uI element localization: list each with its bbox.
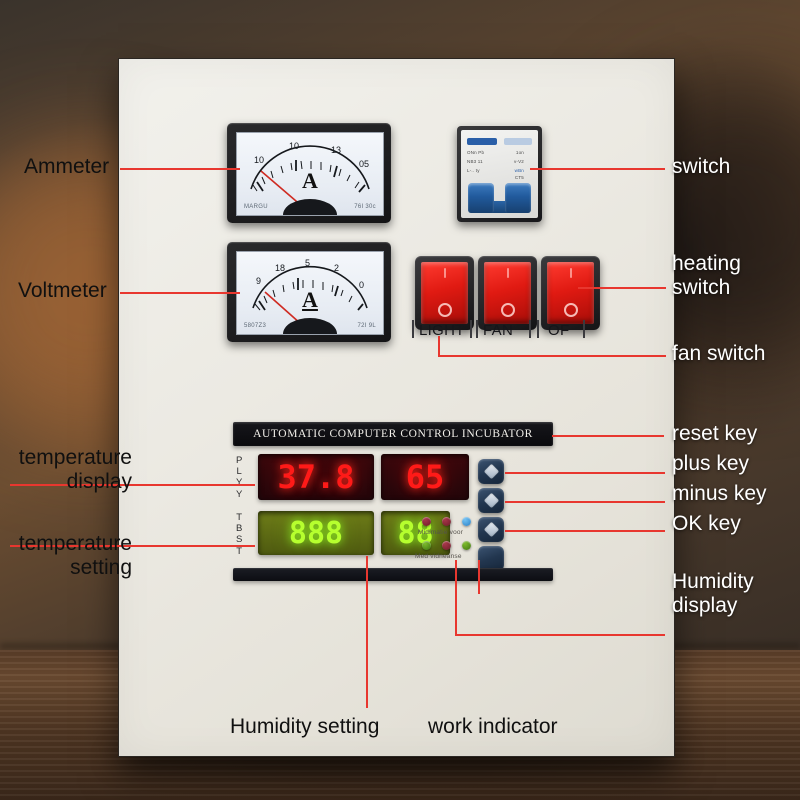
leader-fan-switch-vertical bbox=[438, 336, 440, 356]
side-letter: Y bbox=[236, 489, 243, 500]
screenshot-root: 10 10 13 05 A MARGU 76I 30c bbox=[0, 0, 800, 800]
leader-ok-key bbox=[505, 530, 665, 532]
voltmeter-face: 9 18 5 2 0 A 5807Z3 72I 9L bbox=[236, 251, 384, 335]
annotation-temperature-setting: temperature setting bbox=[0, 532, 132, 579]
breaker-text-3-right: CT5 bbox=[515, 175, 524, 180]
breaker-text-2-left: L-.. ty bbox=[467, 168, 480, 173]
breaker-lever-right[interactable] bbox=[505, 183, 531, 213]
plus-key[interactable] bbox=[478, 488, 504, 513]
light-switch-face bbox=[421, 262, 468, 324]
reset-key[interactable] bbox=[478, 459, 504, 484]
diamond-icon bbox=[483, 522, 499, 538]
work-indicator-led-5 bbox=[442, 541, 451, 550]
temperature-setting-display: 888 bbox=[258, 511, 374, 555]
voltmeter-brand-left: 5807Z3 bbox=[244, 323, 266, 329]
switch-divider bbox=[537, 320, 539, 338]
annotation-voltmeter: Voltmeter bbox=[18, 279, 107, 303]
power-on-icon bbox=[570, 268, 572, 278]
breaker-text-0-right: 1on bbox=[516, 150, 524, 155]
side-letter: T bbox=[236, 512, 242, 523]
light-switch[interactable] bbox=[415, 256, 474, 330]
panel-dark-bar bbox=[233, 568, 553, 581]
main-switch-breaker[interactable]: ONn Pb 1on NB3 11 v-V2 L-.. ty wBn CT5 bbox=[457, 126, 542, 222]
ammeter-brand-left: MARGU bbox=[244, 204, 268, 210]
heating-switch-face bbox=[547, 262, 594, 324]
voltmeter-tick-3: 2 bbox=[334, 263, 339, 273]
switch-divider bbox=[412, 320, 414, 338]
leader-work-indicator bbox=[478, 560, 480, 594]
breaker-body: ONn Pb 1on NB3 11 v-V2 L-.. ty wBn CT5 bbox=[461, 130, 538, 218]
annotation-work-indicator: work indicator bbox=[428, 715, 558, 739]
fan-switch-face bbox=[484, 262, 531, 324]
breaker-text-1-left: NB3 11 bbox=[467, 159, 483, 164]
switch-divider bbox=[529, 320, 531, 338]
leader-voltmeter bbox=[120, 292, 240, 294]
side-letter: B bbox=[236, 523, 243, 534]
breaker-text-1-right: v-V2 bbox=[514, 159, 524, 164]
temperature-display-side-label: P L Y Y bbox=[236, 455, 243, 500]
temperature-setting-side-label: T B S T bbox=[236, 512, 243, 557]
heating-switch[interactable] bbox=[541, 256, 600, 330]
switch-divider bbox=[470, 320, 472, 338]
heating-switch-label: OF bbox=[548, 322, 569, 339]
annotation-humidity-setting: Humidity setting bbox=[230, 715, 379, 739]
annotation-temperature-display: temperature display bbox=[0, 446, 132, 493]
panel-banner-text: AUTOMATIC COMPUTER CONTROL INCUBATOR bbox=[253, 428, 533, 440]
voltmeter-tick-1: 18 bbox=[275, 263, 285, 273]
fan-switch[interactable] bbox=[478, 256, 537, 330]
leader-minus-key bbox=[505, 501, 665, 503]
work-indicator-caption-1: Midimatie voor bbox=[418, 529, 463, 536]
power-off-icon bbox=[564, 303, 578, 317]
ammeter-tick-2: 13 bbox=[331, 145, 341, 155]
annotation-minus-key: minus key bbox=[672, 482, 767, 506]
leader-humidity-setting bbox=[366, 556, 368, 708]
leader-humidity-display-vertical bbox=[455, 560, 457, 635]
breaker-text-2-right: wBn bbox=[515, 168, 524, 173]
voltmeter-tick-2: 5 bbox=[305, 258, 310, 268]
breaker-indicator-bar-blue bbox=[467, 138, 497, 145]
work-indicator-led-6 bbox=[462, 541, 471, 550]
leader-heating-switch bbox=[578, 287, 666, 289]
voltmeter-tick-0: 9 bbox=[256, 276, 261, 286]
ammeter-tick-1: 10 bbox=[289, 141, 299, 151]
work-indicator-led-2 bbox=[442, 517, 451, 526]
work-indicator-led-1 bbox=[422, 517, 431, 526]
humidity-display-value: 65 bbox=[406, 458, 445, 496]
leader-humidity-display bbox=[455, 634, 665, 636]
temperature-display: 37.8 bbox=[258, 454, 374, 500]
power-on-icon bbox=[507, 268, 509, 278]
diamond-icon bbox=[483, 464, 499, 480]
annotation-ammeter: Ammeter bbox=[24, 155, 109, 179]
power-on-icon bbox=[444, 268, 446, 278]
temperature-display-value: 37.8 bbox=[277, 458, 354, 496]
leader-reset-key bbox=[552, 435, 664, 437]
fan-switch-label: FAN bbox=[483, 322, 513, 339]
minus-key[interactable] bbox=[478, 517, 504, 542]
side-letter: Y bbox=[236, 477, 243, 488]
switch-divider bbox=[583, 320, 585, 338]
ammeter-tick-0: 10 bbox=[254, 155, 264, 165]
leader-fan-switch bbox=[438, 355, 666, 357]
work-indicator-caption-2: Med vidneanse bbox=[415, 553, 462, 560]
panel-banner: AUTOMATIC COMPUTER CONTROL INCUBATOR bbox=[233, 422, 553, 446]
ammeter-unit: A bbox=[237, 168, 383, 194]
breaker-lever-left[interactable] bbox=[468, 183, 494, 213]
side-letter: T bbox=[236, 546, 242, 557]
power-off-icon bbox=[438, 303, 452, 317]
work-indicator-led-4 bbox=[422, 541, 431, 550]
ammeter-face: 10 10 13 05 A MARGU 76I 30c bbox=[236, 132, 384, 216]
annotation-plus-key: plus key bbox=[672, 452, 749, 476]
voltmeter-brand-right: 72I 9L bbox=[358, 323, 376, 329]
work-indicator-led-3 bbox=[462, 517, 471, 526]
ammeter-brand-right: 76I 30c bbox=[354, 204, 376, 210]
power-off-icon bbox=[501, 303, 515, 317]
annotation-ok-key: OK key bbox=[672, 512, 741, 536]
voltmeter: 9 18 5 2 0 A 5807Z3 72I 9L bbox=[227, 242, 391, 342]
side-letter: P bbox=[236, 455, 243, 466]
side-letter: L bbox=[237, 466, 243, 477]
humidity-display: 65 bbox=[381, 454, 469, 500]
light-switch-label: LIGHT bbox=[419, 322, 465, 339]
side-letter: S bbox=[236, 534, 243, 545]
annotation-humidity-display: Humidity display bbox=[672, 570, 754, 617]
leader-switch bbox=[530, 168, 665, 170]
voltmeter-unit: A bbox=[237, 287, 383, 313]
control-panel: 10 10 13 05 A MARGU 76I 30c bbox=[118, 58, 675, 757]
annotation-switch: switch bbox=[672, 155, 730, 179]
annotation-reset-key: reset key bbox=[672, 422, 757, 446]
temperature-setting-value: 888 bbox=[289, 516, 343, 551]
annotation-fan-switch: fan switch bbox=[672, 342, 765, 366]
ammeter: 10 10 13 05 A MARGU 76I 30c bbox=[227, 123, 391, 223]
breaker-indicator-bar-grey bbox=[504, 138, 532, 145]
breaker-text-0-left: ONn Pb bbox=[467, 150, 484, 155]
leader-ammeter bbox=[120, 168, 240, 170]
annotation-heating-switch: heating switch bbox=[672, 252, 741, 299]
leader-plus-key bbox=[505, 472, 665, 474]
diamond-icon bbox=[483, 493, 499, 509]
switch-divider bbox=[476, 320, 478, 338]
